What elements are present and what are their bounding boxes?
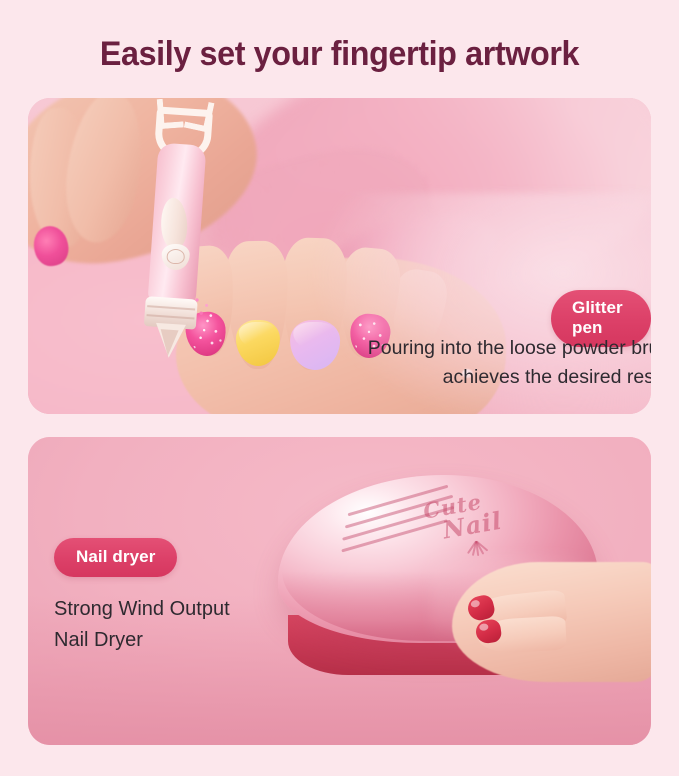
- pen-tip-shadow: [159, 329, 179, 356]
- page-title: Easily set your fingertip artwork: [17, 34, 662, 74]
- glitter-pen-panel: Glitter pen Pouring into the loose powde…: [28, 98, 651, 414]
- nail-sheen: [239, 322, 277, 348]
- nail-dryer-badge: Nail dryer: [54, 538, 177, 577]
- nail-dryer-description-line-2: Nail Dryer: [54, 625, 354, 656]
- nail-dryer-description: Strong Wind Output Nail Dryer: [54, 594, 354, 656]
- nail-dryer-overlay-clip: Cute Nail Nail dryer Strong Wind Output …: [28, 437, 651, 745]
- glitter-pen-description: Pouring into the loose powder brush achi…: [360, 334, 651, 392]
- nail-dryer-description-line-1: Strong Wind Output: [54, 594, 354, 625]
